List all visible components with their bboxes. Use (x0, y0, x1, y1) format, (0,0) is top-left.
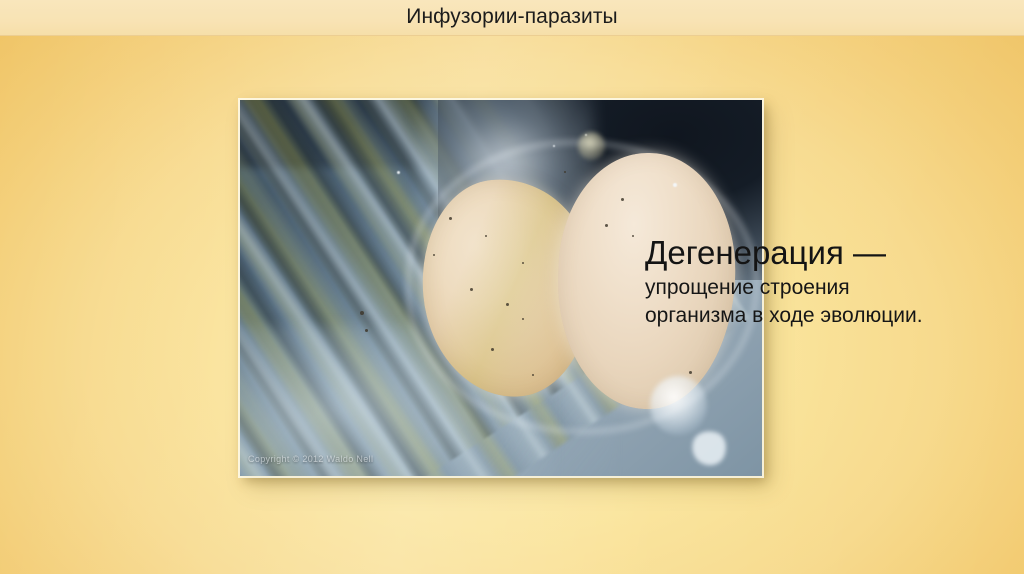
organism-speck (689, 371, 692, 374)
caption-block: Дегенерация — упрощение строения организ… (645, 236, 1017, 330)
organism-speck (360, 311, 364, 315)
caption-body-line: упрощение строения (645, 274, 1017, 302)
photo-small-bubble (578, 132, 605, 160)
slide-title: Инфузории-паразиты (0, 0, 1024, 34)
photo-bubble (650, 376, 707, 434)
photo-bright-speck (673, 183, 677, 187)
organism-speck (522, 262, 524, 264)
organism-speck (491, 348, 494, 351)
organism-speck (522, 318, 524, 320)
organism-speck (621, 198, 624, 201)
caption-body: упрощение строения организма в ходе эвол… (645, 274, 1017, 330)
organism-speck (470, 288, 473, 291)
photo-copyright-watermark: Copyright © 2012 Waldo Nell (248, 454, 373, 464)
caption-body-line: организма в ходе эволюции. (645, 302, 1017, 330)
presentation-slide: Инфузории-паразиты (0, 0, 1024, 574)
caption-heading: Дегенерация — (645, 236, 1017, 270)
organism-speck (449, 217, 452, 220)
